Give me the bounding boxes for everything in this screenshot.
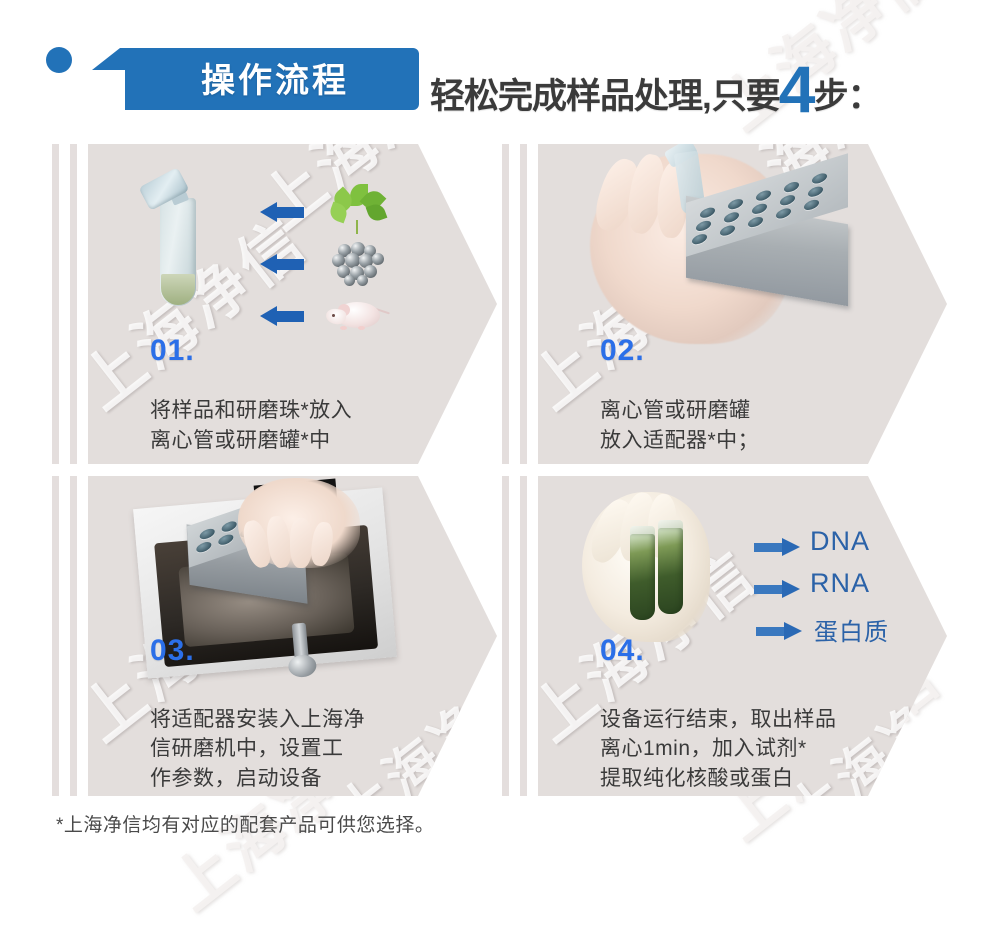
title-part-2: 只要: [712, 68, 780, 119]
title-part-3: 步：: [813, 68, 881, 119]
step-card-03: 上海净信 上海净信: [42, 476, 497, 796]
output-label-protein: 蛋白质: [814, 612, 889, 647]
arrow-left-icon: [260, 306, 304, 326]
step-line: 设备运行结束，取出样品: [600, 705, 930, 735]
grinding-beads-icon: [328, 240, 390, 288]
plant-leaf-icon: [328, 186, 390, 234]
card-accent-bar: [70, 476, 77, 796]
card-accent-bar: [70, 144, 77, 464]
infographic-page: 上海净信 上海净信 上海净信 操作流程 轻松完成样品处理 , 只要 4 步： 上…: [0, 0, 1000, 875]
step-line: 信研磨机中，设置工: [150, 734, 480, 764]
step-number-02: 02.: [600, 334, 645, 368]
arrow-left-icon: [260, 254, 304, 274]
step-description-04: 设备运行结束，取出样品 离心1min，加入试剂* 提取纯化核酸或蛋白: [600, 705, 930, 794]
card-hexagon-body: 上海净信 上海净信: [88, 476, 497, 796]
title-part-1: 轻松完成样品处理: [430, 68, 702, 119]
card-accent-bar: [52, 144, 59, 464]
card-accent-bar: [520, 144, 527, 464]
step-illustration-01: [88, 144, 497, 340]
title-step-count: 4: [779, 56, 816, 122]
header-dot-decoration: [46, 47, 72, 73]
arrow-right-icon: [754, 580, 800, 598]
card-hexagon-body: 上海净信 上海净信: [88, 144, 497, 464]
step-number-04: 04.: [600, 634, 645, 668]
step-number-01: 01.: [150, 334, 195, 368]
card-accent-bar: [502, 476, 509, 796]
arrow-right-icon: [756, 622, 802, 640]
header-badge-label: 操作流程: [140, 58, 410, 104]
step-line: 提取纯化核酸或蛋白: [600, 764, 930, 794]
step-illustration-02: [538, 144, 947, 340]
step-line: 作参数，启动设备: [150, 764, 480, 794]
step-description-01: 将样品和研磨珠*放入 离心管或研磨罐*中: [150, 396, 480, 456]
output-label-dna: DNA: [810, 526, 870, 557]
page-header: 操作流程 轻松完成样品处理 , 只要 4 步：: [0, 0, 1000, 130]
centrifuge-tube-icon: [150, 176, 206, 306]
card-accent-bar: [502, 144, 509, 464]
card-accent-bar: [52, 476, 59, 796]
arrow-right-icon: [754, 538, 800, 556]
step-description-02: 离心管或研磨罐 放入适配器*中；: [600, 396, 930, 456]
step-description-03: 将适配器安装入上海净 信研磨机中，设置工 作参数，启动设备: [150, 705, 480, 794]
step-line: 将适配器安装入上海净: [150, 705, 480, 735]
sample-tube-icon: [658, 528, 683, 614]
step-number-03: 03.: [150, 634, 195, 668]
step-card-04: 上海净信 上海净信 DNA RNA 蛋白质: [492, 476, 947, 796]
card-hexagon-body: 上海净信 上海净信: [538, 144, 947, 464]
step-line: 放入适配器*中；: [600, 426, 930, 456]
step-line: 离心管或研磨罐*中: [150, 426, 480, 456]
arrow-left-icon: [260, 202, 304, 222]
page-title: 轻松完成样品处理 , 只要 4 步：: [430, 52, 882, 108]
steps-grid: 上海净信 上海净信: [0, 136, 1000, 802]
title-comma: ,: [702, 77, 712, 117]
sample-tube-icon: [630, 534, 655, 620]
step-line: 离心1min，加入试剂*: [600, 734, 930, 764]
card-hexagon-body: 上海净信 上海净信 DNA RNA 蛋白质: [538, 476, 947, 796]
step-card-02: 上海净信 上海净信: [492, 144, 947, 464]
card-accent-bar: [520, 476, 527, 796]
footnote-text: *上海净信均有对应的配套产品可供您选择。: [56, 810, 434, 837]
step-line: 将样品和研磨珠*放入: [150, 396, 480, 426]
step-card-01: 上海净信 上海净信: [42, 144, 497, 464]
laboratory-mouse-icon: [326, 290, 388, 338]
output-label-rna: RNA: [810, 568, 870, 599]
step-line: 离心管或研磨罐: [600, 396, 930, 426]
